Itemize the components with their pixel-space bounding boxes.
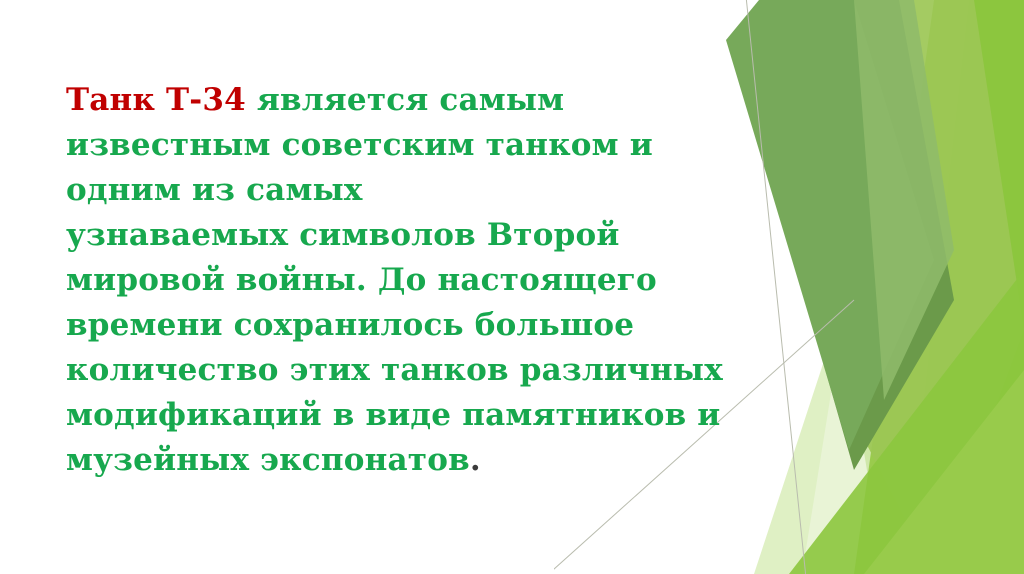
text-segment: мировой войны. До настоящего: [66, 262, 657, 298]
text-line-2: известным советским танком и: [66, 123, 966, 168]
text-segment: известным советским танком и: [66, 127, 653, 163]
text-line-6: времени сохранилось большое: [66, 303, 966, 348]
slide-body-text: Танк Т-34 является самым известным совет…: [66, 78, 966, 483]
text-line-5: мировой войны. До настоящего: [66, 258, 966, 303]
text-highlight-tank-t34: Танк Т-34: [66, 82, 257, 118]
text-segment: узнаваемых символов Второй: [66, 217, 620, 253]
text-segment: одним из самых: [66, 172, 363, 208]
text-line-8: модификаций в виде памятников и: [66, 393, 966, 438]
text-segment: времени сохранилось большое: [66, 307, 634, 343]
text-line-7: количество этих танков различных: [66, 348, 966, 393]
text-segment: модификаций в виде памятников и: [66, 397, 721, 433]
text-line-4: узнаваемых символов Второй: [66, 213, 966, 258]
text-segment: количество этих танков различных: [66, 352, 723, 388]
text-segment: является самым: [257, 82, 564, 118]
text-line-9: музейных экспонатов.: [66, 438, 966, 483]
slide-canvas: Танк Т-34 является самым известным совет…: [0, 0, 1024, 574]
text-segment: музейных экспонатов: [66, 442, 470, 478]
text-line-3: одним из самых: [66, 168, 966, 213]
text-line-1: Танк Т-34 является самым: [66, 78, 966, 123]
text-period: .: [470, 442, 481, 478]
